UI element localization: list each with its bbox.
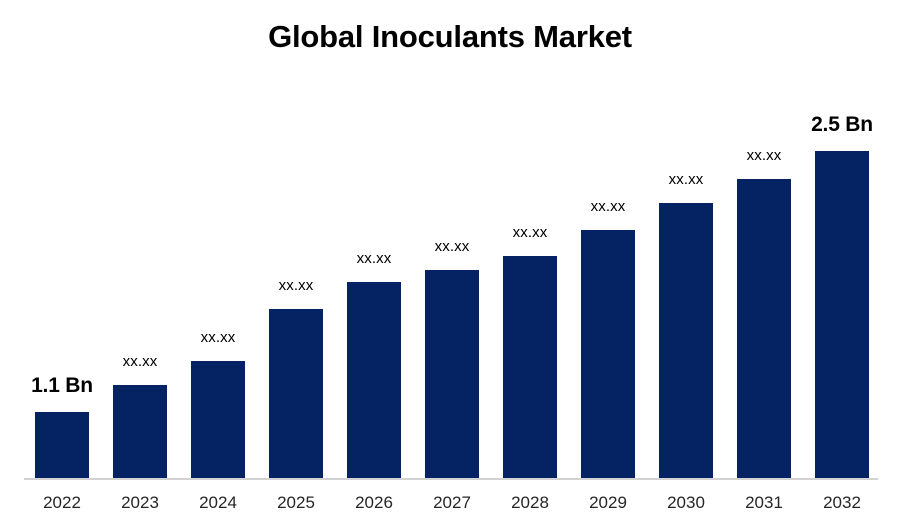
x-axis-tick-label: 2026 (335, 493, 413, 513)
bar-value-label: xx.xx (335, 250, 413, 267)
bar-group: xx.xx 2028 (491, 0, 569, 525)
chart-canvas: Global Inoculants Market 1.1 Bn 2022 xx.… (0, 0, 900, 525)
x-axis-tick-label: 2022 (23, 493, 101, 513)
bar-value-label: 1.1 Bn (23, 374, 101, 398)
x-axis-tick-label: 2023 (101, 493, 179, 513)
bar-value-label: xx.xx (725, 147, 803, 164)
bar-value-label: xx.xx (101, 353, 179, 370)
bar-value-label: 2.5 Bn (803, 113, 881, 137)
bar-group: xx.xx 2030 (647, 0, 725, 525)
x-axis-tick-label: 2032 (803, 493, 881, 513)
x-axis-tick-label: 2031 (725, 493, 803, 513)
bar-value-label: xx.xx (179, 329, 257, 346)
bar-group: xx.xx 2023 (101, 0, 179, 525)
bar-value-label: xx.xx (491, 224, 569, 241)
bar-group: xx.xx 2026 (335, 0, 413, 525)
bar-rect[interactable] (269, 309, 323, 479)
bar-rect[interactable] (659, 203, 713, 479)
x-axis-tick-label: 2027 (413, 493, 491, 513)
bar-value-label: xx.xx (569, 198, 647, 215)
bar-value-label: xx.xx (647, 171, 725, 188)
bar-rect[interactable] (581, 230, 635, 479)
bar-rect[interactable] (503, 256, 557, 479)
x-axis-tick-label: 2025 (257, 493, 335, 513)
bar-group: xx.xx 2027 (413, 0, 491, 525)
bar-rect[interactable] (737, 179, 791, 479)
bar-value-label: xx.xx (257, 277, 335, 294)
bar-rect[interactable] (347, 282, 401, 479)
bar-group: xx.xx 2031 (725, 0, 803, 525)
bar-group: 1.1 Bn 2022 (23, 0, 101, 525)
bar-chart-plot-area: 1.1 Bn 2022 xx.xx 2023 xx.xx 2024 xx.xx … (0, 0, 900, 525)
x-axis-tick-label: 2024 (179, 493, 257, 513)
bar-group: xx.xx 2029 (569, 0, 647, 525)
bar-rect[interactable] (113, 385, 167, 479)
bar-group: xx.xx 2024 (179, 0, 257, 525)
bar-rect[interactable] (35, 412, 89, 479)
x-axis-tick-label: 2029 (569, 493, 647, 513)
bar-rect[interactable] (425, 270, 479, 479)
bar-rect[interactable] (191, 361, 245, 479)
x-axis-tick-label: 2030 (647, 493, 725, 513)
bar-rect[interactable] (815, 151, 869, 479)
bar-group: 2.5 Bn 2032 (803, 0, 881, 525)
bar-group: xx.xx 2025 (257, 0, 335, 525)
bar-value-label: xx.xx (413, 238, 491, 255)
x-axis-line (24, 478, 878, 480)
x-axis-tick-label: 2028 (491, 493, 569, 513)
